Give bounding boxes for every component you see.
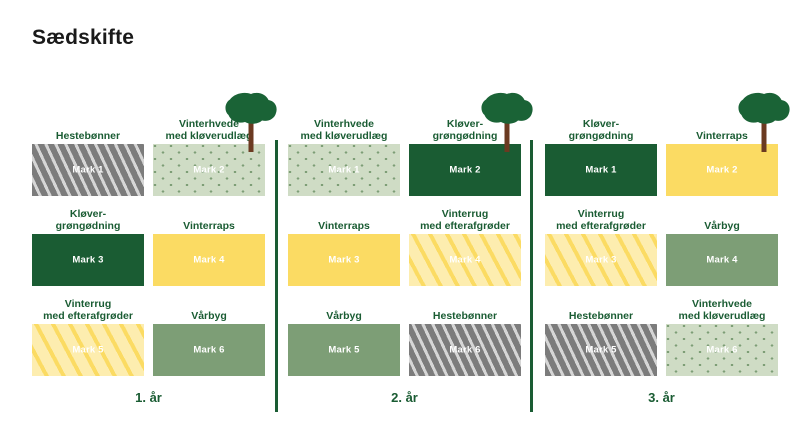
field-block[interactable]: Mark 6 [153, 324, 265, 376]
crop-cell[interactable]: Vinterraps Mark 2 [666, 110, 778, 196]
field-name: Mark 2 [409, 165, 521, 176]
field-block[interactable]: Mark 4 [153, 234, 265, 286]
crop-cell[interactable]: Vårbyg Mark 4 [666, 200, 778, 286]
crop-label: Kløver- grøngødning [403, 119, 527, 142]
crop-cell[interactable]: Vårbyg Mark 5 [288, 290, 400, 376]
crop-cell[interactable]: Kløver- grøngødning Mark 2 [409, 110, 521, 196]
crop-label: Vinterrug med efterafgrøder [26, 299, 150, 322]
field-block[interactable]: Mark 1 [288, 144, 400, 196]
field-name: Mark 1 [32, 165, 144, 176]
crop-label: Vinterraps [282, 221, 406, 233]
crop-row: Hestebønner Mark 1 Vinterhvede med kløve… [32, 110, 265, 196]
field-block[interactable]: Mark 1 [32, 144, 144, 196]
year-divider [530, 140, 533, 412]
field-block[interactable]: Mark 2 [666, 144, 778, 196]
crop-cell[interactable]: Vinterrug med efterafgrøder Mark 3 [545, 200, 657, 286]
crop-row: Vårbyg Mark 5 Hestebønner Mark 6 [288, 290, 521, 376]
crop-row: Vinterrug med efterafgrøder Mark 3 Vårby… [545, 200, 778, 286]
field-block[interactable]: Mark 2 [153, 144, 265, 196]
field-name: Mark 3 [288, 255, 400, 266]
crop-cell[interactable]: Vinterhvede med kløverudlæg Mark 6 [666, 290, 778, 376]
crop-row: Kløver- grøngødning Mark 3 Vinterraps Ma… [32, 200, 265, 286]
field-block[interactable]: Mark 2 [409, 144, 521, 196]
crop-label: Hestebønner [26, 131, 150, 143]
year-column-3: Kløver- grøngødning Mark 1 Vinterraps Ma… [545, 96, 778, 432]
field-name: Mark 5 [32, 345, 144, 356]
field-name: Mark 3 [545, 255, 657, 266]
field-block[interactable]: Mark 5 [545, 324, 657, 376]
field-block[interactable]: Mark 3 [288, 234, 400, 286]
crop-cell[interactable]: Vinterrug med efterafgrøder Mark 5 [32, 290, 144, 376]
field-block[interactable]: Mark 4 [409, 234, 521, 286]
crop-label: Hestebønner [539, 311, 663, 323]
crop-cell[interactable]: Hestebønner Mark 6 [409, 290, 521, 376]
crop-cell[interactable]: Vårbyg Mark 6 [153, 290, 265, 376]
crop-cell[interactable]: Vinterraps Mark 3 [288, 200, 400, 286]
field-name: Mark 6 [409, 345, 521, 356]
year-divider [275, 140, 278, 412]
crop-row: Vinterrug med efterafgrøder Mark 5 Vårby… [32, 290, 265, 376]
field-name: Mark 4 [409, 255, 521, 266]
crop-label: Hestebønner [403, 311, 527, 323]
field-name: Mark 1 [288, 165, 400, 176]
field-name: Mark 2 [153, 165, 265, 176]
year-caption: 2. år [288, 390, 521, 405]
crop-label: Vårbyg [282, 311, 406, 323]
crop-label: Vårbyg [660, 221, 784, 233]
crop-cell[interactable]: Vinterraps Mark 4 [153, 200, 265, 286]
field-block[interactable]: Mark 3 [545, 234, 657, 286]
crop-label: Kløver- grøngødning [26, 209, 150, 232]
crop-cell[interactable]: Kløver- grøngødning Mark 1 [545, 110, 657, 196]
field-name: Mark 6 [153, 345, 265, 356]
crop-cell[interactable]: Vinterhvede med kløverudlæg Mark 1 [288, 110, 400, 196]
field-block[interactable]: Mark 6 [666, 324, 778, 376]
field-name: Mark 2 [666, 165, 778, 176]
crop-label: Vårbyg [147, 311, 271, 323]
year-caption: 3. år [545, 390, 778, 405]
field-block[interactable]: Mark 4 [666, 234, 778, 286]
field-name: Mark 4 [666, 255, 778, 266]
field-name: Mark 5 [288, 345, 400, 356]
field-block[interactable]: Mark 5 [32, 324, 144, 376]
crop-row: Vinterhvede med kløverudlæg Mark 1 Kløve… [288, 110, 521, 196]
crop-label: Vinterraps [147, 221, 271, 233]
crop-row: Vinterraps Mark 3 Vinterrug med efterafg… [288, 200, 521, 286]
field-block[interactable]: Mark 1 [545, 144, 657, 196]
crop-cell[interactable]: Kløver- grøngødning Mark 3 [32, 200, 144, 286]
crop-label: Vinterrug med efterafgrøder [403, 209, 527, 232]
field-name: Mark 5 [545, 345, 657, 356]
field-block[interactable]: Mark 6 [409, 324, 521, 376]
crop-label: Vinterhvede med kløverudlæg [147, 119, 271, 142]
field-name: Mark 1 [545, 165, 657, 176]
field-name: Mark 4 [153, 255, 265, 266]
field-name: Mark 6 [666, 345, 778, 356]
crop-rotation-diagram: Hestebønner Mark 1 Vinterhvede med kløve… [0, 96, 799, 432]
crop-label: Kløver- grøngødning [539, 119, 663, 142]
crop-row: Hestebønner Mark 5 Vinterhvede med kløve… [545, 290, 778, 376]
crop-label: Vinterraps [660, 131, 784, 143]
page-title: Sædskifte [32, 26, 134, 50]
field-block[interactable]: Mark 3 [32, 234, 144, 286]
crop-label: Vinterhvede med kløverudlæg [282, 119, 406, 142]
crop-cell[interactable]: Vinterrug med efterafgrøder Mark 4 [409, 200, 521, 286]
crop-label: Vinterrug med efterafgrøder [539, 209, 663, 232]
crop-row: Kløver- grøngødning Mark 1 Vinterraps Ma… [545, 110, 778, 196]
field-name: Mark 3 [32, 255, 144, 266]
field-block[interactable]: Mark 5 [288, 324, 400, 376]
year-column-1: Hestebønner Mark 1 Vinterhvede med kløve… [32, 96, 265, 432]
crop-cell[interactable]: Hestebønner Mark 5 [545, 290, 657, 376]
crop-cell[interactable]: Vinterhvede med kløverudlæg Mark 2 [153, 110, 265, 196]
crop-cell[interactable]: Hestebønner Mark 1 [32, 110, 144, 196]
year-column-2: Vinterhvede med kløverudlæg Mark 1 Kløve… [288, 96, 521, 432]
year-caption: 1. år [32, 390, 265, 405]
crop-label: Vinterhvede med kløverudlæg [660, 299, 784, 322]
